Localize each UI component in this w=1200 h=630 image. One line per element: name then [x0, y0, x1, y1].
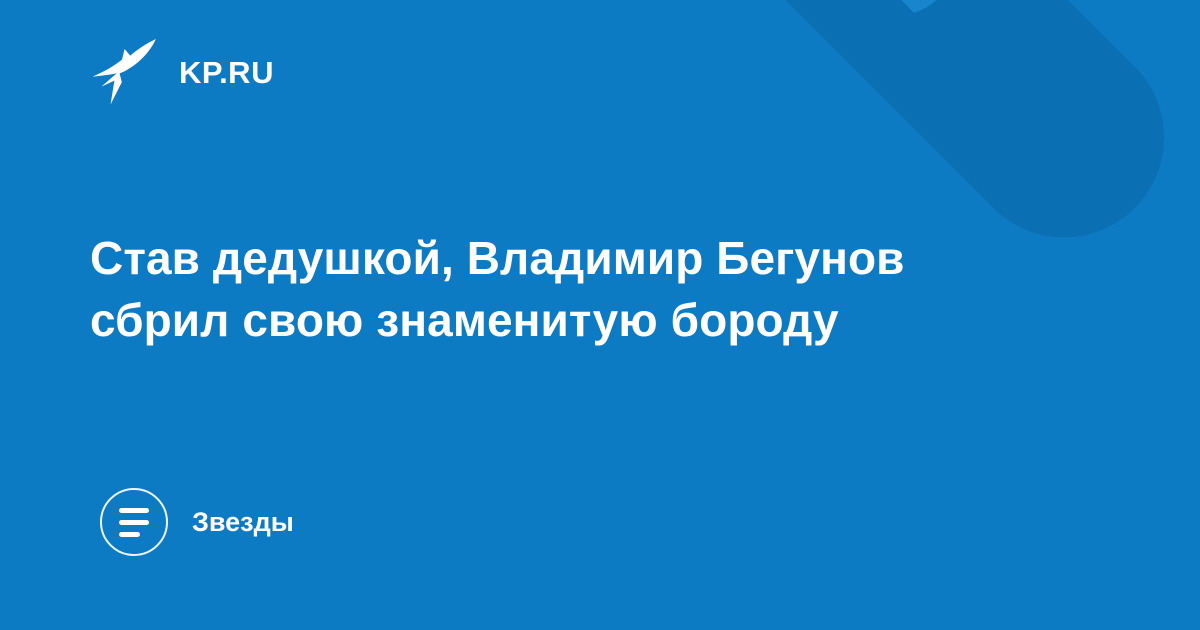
category-label: Звезды	[192, 509, 294, 536]
menu-line-2	[119, 520, 149, 525]
hamburger-lines-icon	[100, 488, 168, 556]
site-header: KP.RU	[91, 36, 274, 108]
menu-line-1	[119, 508, 149, 513]
menu-line-3	[119, 532, 140, 537]
category-badge[interactable]: Звезды	[100, 488, 294, 556]
swallow-bird-icon	[91, 38, 157, 106]
brand-name: KP.RU	[179, 57, 274, 88]
share-card: KP.RU Став дедушкой, Владимир Бегунов сб…	[0, 0, 1200, 630]
page-title: Став дедушкой, Владимир Бегунов сбрил св…	[90, 227, 1030, 351]
